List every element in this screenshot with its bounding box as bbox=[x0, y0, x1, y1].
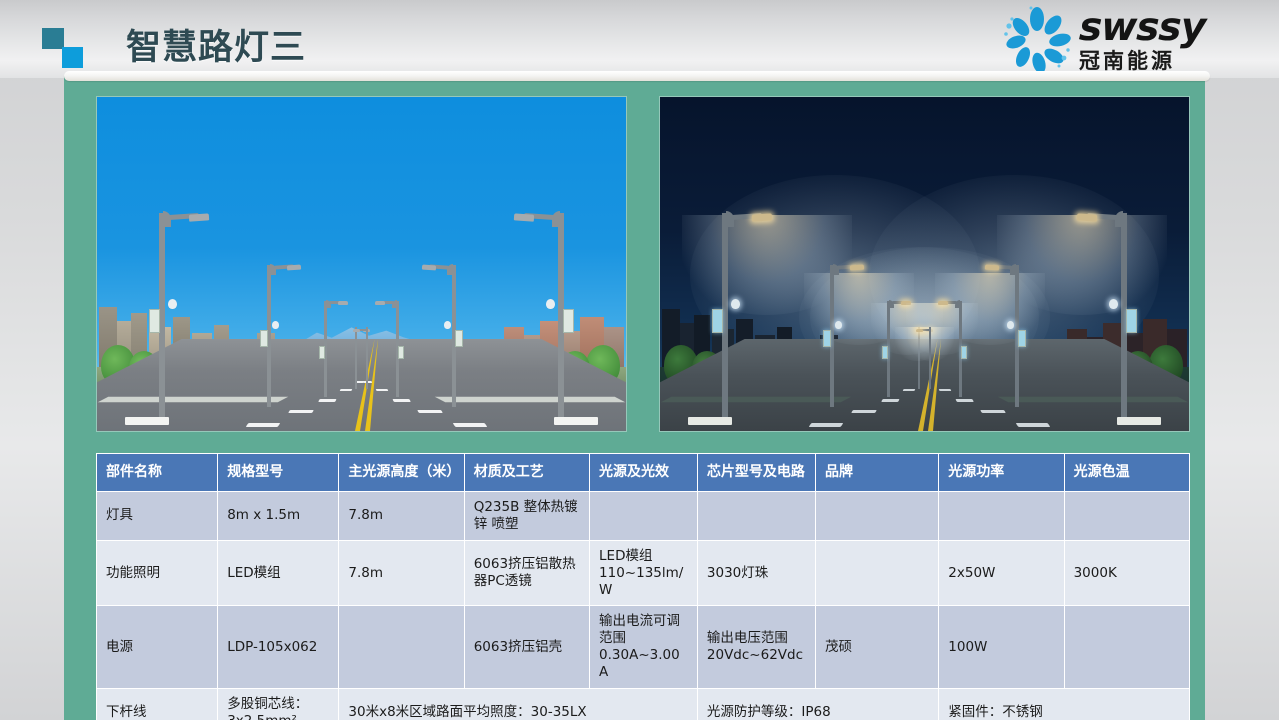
table-row: 灯具 8m x 1.5m 7.8m Q235B 整体热镀锌 喷塑 bbox=[97, 492, 1190, 541]
lamp-head bbox=[901, 301, 911, 305]
column-header-model: 规格型号 bbox=[218, 454, 339, 492]
cell-light-eff: LED模组110~135lm/W bbox=[590, 540, 698, 606]
square-dark-icon bbox=[42, 28, 64, 49]
lamp-head bbox=[287, 265, 301, 271]
table-row: 电源 LDP-105x062 6063挤压铝壳 输出电流可调范围0.30A~3.… bbox=[97, 606, 1190, 689]
lamp-globe bbox=[731, 299, 740, 309]
image-gallery bbox=[96, 96, 1190, 432]
smart-streetlight-daytime-render[interactable] bbox=[96, 96, 627, 432]
lamp-head bbox=[985, 265, 999, 271]
curb bbox=[435, 397, 626, 403]
lane-dash bbox=[417, 410, 443, 413]
cell-brand: 茂硕 bbox=[816, 606, 939, 689]
lane-dash bbox=[939, 389, 952, 391]
spec-table-container: 部件名称 规格型号 主光源高度（米） 材质及工艺 光源及光效 芯片型号及电路 品… bbox=[96, 453, 1190, 720]
lamp-banner bbox=[563, 309, 574, 333]
lane-dash bbox=[288, 410, 314, 413]
lamp-banner bbox=[823, 330, 831, 347]
content-panel: 部件名称 规格型号 主光源高度（米） 材质及工艺 光源及光效 芯片型号及电路 品… bbox=[64, 76, 1205, 720]
column-header-light-eff: 光源及光效 bbox=[590, 454, 698, 492]
cell-brand bbox=[816, 492, 939, 541]
lamp-banner bbox=[882, 346, 888, 359]
cell-model: LDP-105x062 bbox=[218, 606, 339, 689]
lane-dash bbox=[851, 410, 877, 413]
cell-part-name: 下杆线 bbox=[97, 688, 218, 720]
column-header-part-name: 部件名称 bbox=[97, 454, 218, 492]
lamp-head bbox=[1077, 213, 1097, 221]
cell-part-name: 功能照明 bbox=[97, 540, 218, 606]
lamp-head bbox=[375, 301, 385, 305]
lamp-base bbox=[554, 417, 598, 425]
lamp-base bbox=[125, 417, 169, 425]
lamp-globe bbox=[272, 321, 279, 329]
company-logo: swssy 冠南能源 bbox=[1001, 4, 1261, 76]
curb bbox=[998, 397, 1189, 403]
cell-color-temp bbox=[1064, 606, 1189, 689]
column-header-height: 主光源高度（米） bbox=[339, 454, 464, 492]
lamp-banner bbox=[1126, 309, 1137, 333]
lane-dash bbox=[1016, 423, 1051, 427]
lamp-head bbox=[850, 265, 864, 271]
cell-chip: 输出电压范围20Vdc~62Vdc bbox=[697, 606, 815, 689]
cell-fastener: 紧固件：不锈钢 bbox=[939, 688, 1190, 720]
lamp-head bbox=[338, 301, 348, 305]
cell-power bbox=[939, 492, 1064, 541]
cell-part-name: 电源 bbox=[97, 606, 218, 689]
lamp-banner bbox=[260, 330, 268, 347]
lane-dash bbox=[340, 389, 353, 391]
cell-light-eff: 输出电流可调范围0.30A~3.00A bbox=[590, 606, 698, 689]
logo-subtitle: 冠南能源 bbox=[1079, 49, 1205, 73]
lamp-head bbox=[752, 213, 772, 221]
table-row: 功能照明 LED模组 7.8m 6063挤压铝散热器PC透镜 LED模组110~… bbox=[97, 540, 1190, 606]
cell-color-temp bbox=[1064, 492, 1189, 541]
lamp-pole bbox=[366, 327, 368, 389]
lane-dash bbox=[376, 389, 389, 391]
lamp-globe bbox=[1109, 299, 1118, 309]
cell-model: LED模组 bbox=[218, 540, 339, 606]
lane-dash bbox=[318, 399, 336, 402]
page-title: 智慧路灯三 bbox=[126, 19, 306, 70]
lamp-pole bbox=[355, 327, 357, 389]
lane-dash bbox=[453, 423, 488, 427]
spec-table: 部件名称 规格型号 主光源高度（米） 材质及工艺 光源及光效 芯片型号及电路 品… bbox=[96, 453, 1190, 720]
cell-part-name: 灯具 bbox=[97, 492, 218, 541]
lamp-banner bbox=[455, 330, 463, 347]
water-droplet-flower-logo-icon bbox=[1001, 6, 1073, 74]
column-header-power: 光源功率 bbox=[939, 454, 1064, 492]
lamp-globe bbox=[546, 299, 555, 309]
lamp-globe bbox=[835, 321, 842, 329]
lamp-banner bbox=[712, 309, 723, 333]
header-divider-bar bbox=[64, 71, 1210, 81]
cell-color-temp: 3000K bbox=[1064, 540, 1189, 606]
column-header-chip: 芯片型号及电路 bbox=[697, 454, 815, 492]
lamp-banner bbox=[961, 346, 967, 359]
lamp-banner bbox=[1018, 330, 1026, 347]
lamp-head bbox=[916, 329, 923, 332]
lamp-banner bbox=[319, 346, 325, 359]
lamp-head bbox=[422, 265, 436, 271]
lane-dash bbox=[881, 399, 899, 402]
cell-illuminance: 30米x8米区域路面平均照度：30-35LX bbox=[339, 688, 697, 720]
lamp-base bbox=[1117, 417, 1161, 425]
column-header-brand: 品牌 bbox=[816, 454, 939, 492]
square-bright-icon bbox=[62, 47, 83, 68]
cell-light-eff bbox=[590, 492, 698, 541]
lane-dash bbox=[809, 423, 844, 427]
lane-dash bbox=[955, 399, 973, 402]
logo-text-block: swssy 冠南能源 bbox=[1079, 8, 1205, 73]
column-header-color-temp: 光源色温 bbox=[1064, 454, 1189, 492]
lamp-banner bbox=[149, 309, 160, 333]
slide-header: 智慧路灯三 swssy bbox=[0, 0, 1279, 78]
lamp-globe bbox=[444, 321, 451, 329]
lamp-head bbox=[353, 329, 360, 332]
cell-power: 2x50W bbox=[939, 540, 1064, 606]
lamp-head bbox=[514, 213, 534, 221]
column-header-material: 材质及工艺 bbox=[464, 454, 589, 492]
table-header-row: 部件名称 规格型号 主光源高度（米） 材质及工艺 光源及光效 芯片型号及电路 品… bbox=[97, 454, 1190, 492]
cell-model: 8m x 1.5m bbox=[218, 492, 339, 541]
lane-dash bbox=[392, 399, 410, 402]
lamp-base bbox=[688, 417, 732, 425]
lamp-globe bbox=[168, 299, 177, 309]
lamp-head bbox=[938, 301, 948, 305]
lamp-globe bbox=[1007, 321, 1014, 329]
lamp-pole bbox=[918, 327, 920, 389]
cell-brand bbox=[816, 540, 939, 606]
decorative-squares bbox=[42, 28, 88, 68]
cell-height: 7.8m bbox=[339, 492, 464, 541]
cell-power: 100W bbox=[939, 606, 1064, 689]
cell-height bbox=[339, 606, 464, 689]
table-row-merged: 下杆线 多股铜芯线：3x2.5mm² 30米x8米区域路面平均照度：30-35L… bbox=[97, 688, 1190, 720]
cell-cable-spec: 多股铜芯线：3x2.5mm² bbox=[218, 688, 339, 720]
cell-chip bbox=[697, 492, 815, 541]
lamp-head bbox=[189, 213, 209, 221]
cell-material: Q235B 整体热镀锌 喷塑 bbox=[464, 492, 589, 541]
lane-dash bbox=[903, 389, 916, 391]
curb bbox=[661, 397, 852, 403]
logo-wordmark: swssy bbox=[1078, 8, 1205, 48]
curb bbox=[98, 397, 289, 403]
cell-height: 7.8m bbox=[339, 540, 464, 606]
cell-material: 6063挤压铝散热器PC透镜 bbox=[464, 540, 589, 606]
smart-streetlight-night-render[interactable] bbox=[659, 96, 1190, 432]
cell-material: 6063挤压铝壳 bbox=[464, 606, 589, 689]
lane-dash bbox=[246, 423, 281, 427]
cell-protection: 光源防护等级：IP68 bbox=[697, 688, 938, 720]
lane-dash bbox=[980, 410, 1006, 413]
lamp-pole bbox=[929, 327, 931, 389]
lamp-banner bbox=[398, 346, 404, 359]
cell-chip: 3030灯珠 bbox=[697, 540, 815, 606]
